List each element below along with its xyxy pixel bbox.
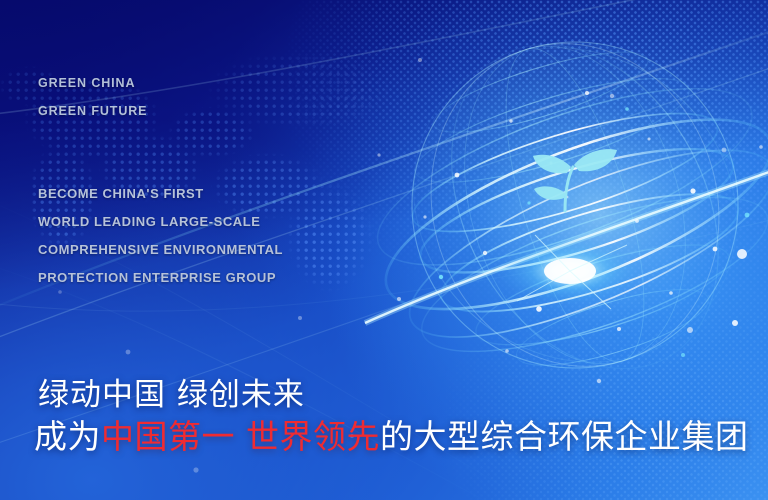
claim-line-2: WORLD LEADING LARGE-SCALE [38,214,260,229]
claim-line-3: COMPREHENSIVE ENVIRONMENTAL [38,242,283,257]
headline-highlight: 中国第一 世界领先 [101,417,380,456]
eyebrow-line-1: GREEN CHINA [38,76,135,90]
headline-suffix: 的大型综合环保企业集团 [380,417,749,456]
eyebrow-line-2: GREEN FUTURE [38,104,147,118]
headline-prefix: 成为 [34,417,101,456]
banner-root: GREEN CHINA GREEN FUTURE BECOME CHINA'S … [0,0,768,500]
headline-line-2: 成为中国第一 世界领先的大型综合环保企业集团 [34,410,749,458]
claim-line-1: BECOME CHINA'S FIRST [38,186,204,201]
headline-line-1: 绿动中国 绿创未来 [38,369,305,414]
claim-line-4: PROTECTION ENTERPRISE GROUP [38,270,276,285]
